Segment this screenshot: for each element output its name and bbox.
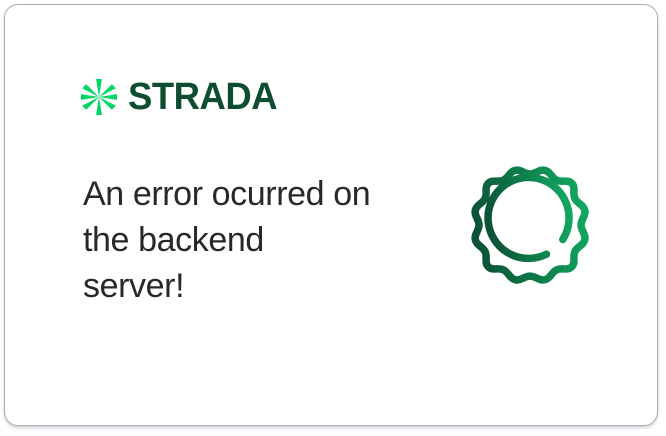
error-card: STRADA An error ocurred on the backend s… xyxy=(4,4,658,426)
brand-lockup: STRADA xyxy=(79,73,283,121)
error-message: An error ocurred on the backend server! xyxy=(83,171,373,309)
brand-wordmark: STRADA xyxy=(128,78,277,116)
error-screen: STRADA An error ocurred on the backend s… xyxy=(0,0,666,436)
gear-loading-icon xyxy=(449,144,611,306)
starburst-asterisk-icon xyxy=(79,77,119,117)
